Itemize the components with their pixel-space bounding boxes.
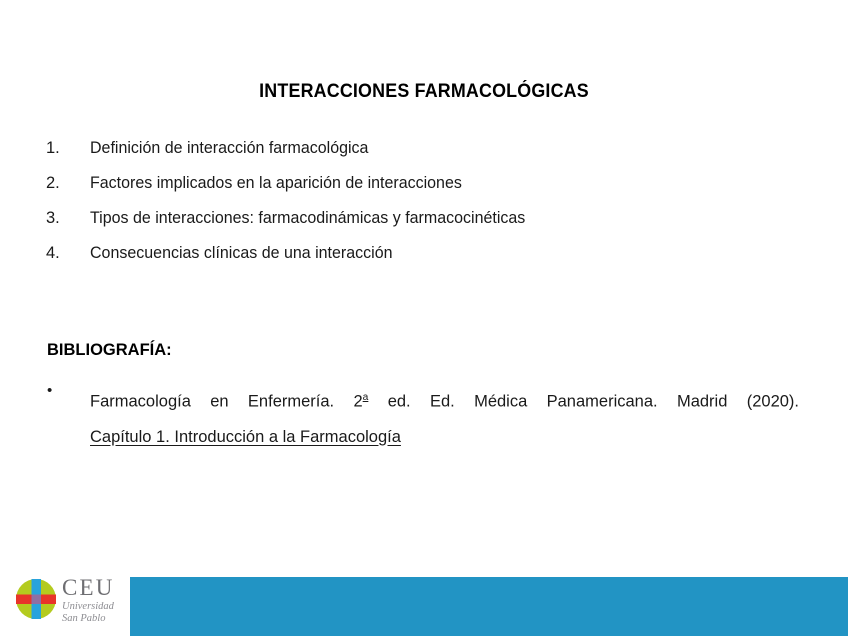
presentation-slide: INTERACCIONES FARMACOLÓGICAS 1. Definici… bbox=[0, 0, 848, 636]
reference-text-after-ordinal: ed. Ed. Médica Panamericana. Madrid (202… bbox=[368, 393, 799, 411]
bibliography-heading: BIBLIOGRAFÍA: bbox=[47, 341, 172, 360]
footer-color-band bbox=[130, 577, 848, 636]
list-item-label: Tipos de interacciones: farmacodinámicas… bbox=[90, 209, 525, 228]
list-item-number: 4. bbox=[46, 244, 90, 263]
list-item-label: Consecuencias clínicas de una interacció… bbox=[90, 244, 393, 263]
ceu-subtitle-line-1: Universidad bbox=[62, 601, 132, 613]
page-title: INTERACCIONES FARMACOLÓGICAS bbox=[25, 81, 822, 103]
list-item-number: 2. bbox=[46, 174, 90, 193]
bibliography-entry: • Farmacología en Enfermería. 2a ed. Ed.… bbox=[47, 380, 799, 455]
ceu-wordmark-text: CEU bbox=[62, 575, 132, 601]
list-item: 2. Factores implicados en la aparición d… bbox=[46, 174, 806, 209]
list-item-label: Factores implicados en la aparición de i… bbox=[90, 174, 462, 193]
reference-text-before-ordinal: Farmacología en Enfermería. 2 bbox=[90, 393, 363, 411]
list-item-label: Definición de interacción farmacológica bbox=[90, 139, 368, 158]
list-item: 3. Tipos de interacciones: farmacodinámi… bbox=[46, 209, 806, 244]
list-item: 1. Definición de interacción farmacológi… bbox=[46, 139, 806, 174]
ceu-subtitle-line-2: San Pablo bbox=[62, 613, 132, 625]
agenda-list: 1. Definición de interacción farmacológi… bbox=[46, 139, 806, 279]
list-item-number: 3. bbox=[46, 209, 90, 228]
list-item: 4. Consecuencias clínicas de una interac… bbox=[46, 244, 806, 279]
list-item-number: 1. bbox=[46, 139, 90, 158]
ceu-emblem-icon bbox=[14, 577, 58, 621]
bibliography-chapter: Capítulo 1. Introducción a la Farmacolog… bbox=[90, 420, 799, 455]
ceu-wordmark: CEU Universidad San Pablo bbox=[62, 575, 132, 624]
bibliography-reference: Farmacología en Enfermería. 2a ed. Ed. M… bbox=[90, 380, 799, 420]
ceu-logo: CEU Universidad San Pablo bbox=[10, 574, 130, 632]
bullet-icon: • bbox=[47, 380, 90, 402]
bibliography-body: Farmacología en Enfermería. 2a ed. Ed. M… bbox=[90, 380, 799, 455]
